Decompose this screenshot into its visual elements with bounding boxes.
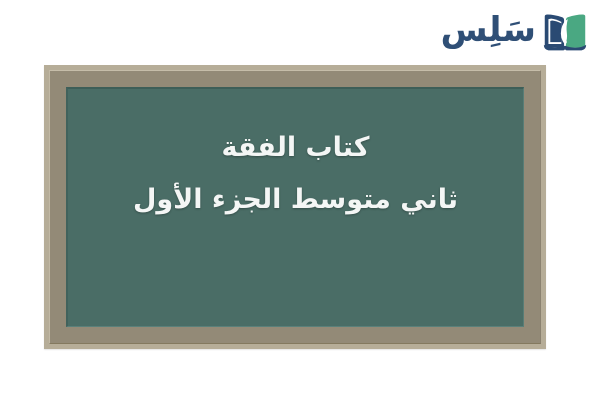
brand-logo[interactable]: سَلِس xyxy=(441,4,588,60)
board-title-line-1: كتاب الفقة xyxy=(221,133,369,163)
chalkboard-frame: كتاب الفقة ثاني متوسط الجزء الأول xyxy=(49,70,541,344)
book-left-page-fill xyxy=(550,21,561,43)
brand-wordmark: سَلِس xyxy=(441,13,536,51)
open-book-icon xyxy=(542,9,588,55)
chalkboard-surface: كتاب الفقة ثاني متوسط الجزء الأول xyxy=(66,87,524,327)
board-title-line-2: ثاني متوسط الجزء الأول xyxy=(133,185,458,215)
book-right-page xyxy=(566,15,585,48)
chalkboard: كتاب الفقة ثاني متوسط الجزء الأول xyxy=(44,65,546,349)
